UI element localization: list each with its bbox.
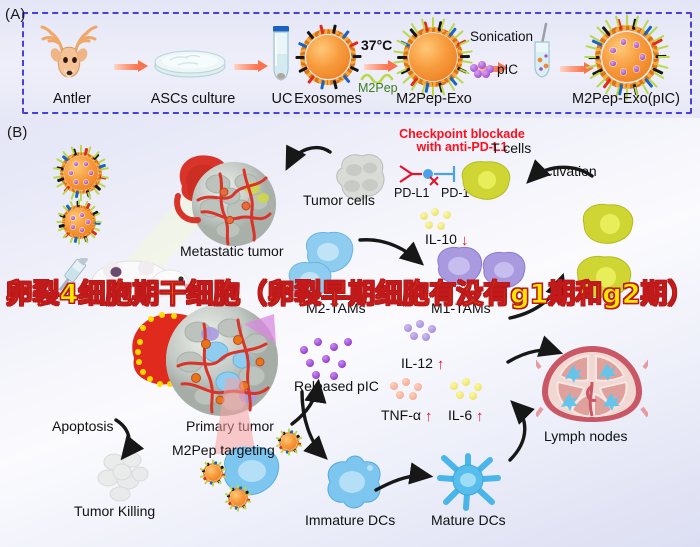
panel-a-letter: (A) — [5, 6, 26, 23]
m2pep-chain — [294, 449, 298, 453]
pic-dots-icon — [470, 61, 494, 77]
m2pep-chain — [80, 145, 82, 153]
targeting-nanoparticle-3 — [227, 487, 249, 509]
il-6-dots-icon — [450, 378, 490, 402]
m2pep-chain — [222, 475, 226, 478]
m2pep-chain — [212, 483, 214, 487]
centrifuge-tube-icon — [268, 24, 294, 84]
targeting-nanoparticle-1 — [278, 431, 300, 453]
pic-label: pIC — [497, 62, 518, 77]
m2pep-chain — [53, 167, 61, 170]
m2pep-chain — [584, 56, 596, 58]
label-il-12: IL-12 ↑ — [401, 355, 444, 373]
label-mature-dcs: Mature DCs — [431, 512, 506, 528]
pic-cargo-dot — [634, 42, 640, 48]
panel-a-step-label-antler: Antler — [22, 91, 122, 107]
il-12-dots-icon — [404, 320, 444, 342]
panel-a-step-label-m2pep-exo-pic: M2Pep-Exo(pIC) — [558, 91, 694, 107]
targeting-nanoparticle-2 — [202, 462, 224, 484]
m2pep-chain — [62, 188, 69, 195]
il-6-direction-arrow: ↑ — [476, 408, 484, 425]
m2pep-chain — [78, 199, 80, 205]
m2pep-chain — [298, 437, 302, 440]
arrow-m2-to-m1 — [360, 240, 420, 262]
panel-a-step-label-m2pep-exo: M2Pep-Exo — [392, 91, 476, 107]
label-m2pep-targeting: M2Pep targeting — [172, 442, 275, 458]
m2pep-chain — [247, 500, 251, 503]
tumor-killing-icon — [92, 446, 154, 504]
m2pep-chain — [626, 14, 628, 26]
m2pep-chain — [200, 468, 204, 471]
label-tumor-killing: Tumor Killing — [74, 503, 155, 519]
il-12-name: IL-12 — [401, 355, 433, 371]
pic-cargo-dot — [610, 48, 616, 54]
m2pep-chain — [78, 239, 80, 245]
m2pep-chain — [432, 17, 434, 28]
tnf-alpha-name: TNF-α — [381, 407, 421, 423]
pic-cargo-dot — [621, 69, 627, 75]
pic-cargo-dot — [621, 39, 627, 45]
metastatic-tumor-icon — [168, 148, 296, 258]
m2pep-chain — [658, 56, 670, 58]
m2pep-chain — [229, 505, 233, 509]
m2pep-exosome-icon — [400, 24, 466, 90]
m2pep-chain — [243, 505, 247, 509]
t-cell-icon-2 — [578, 200, 640, 248]
m2pep-chain — [56, 221, 62, 223]
arrow-pic-to-immaturedc — [302, 392, 324, 456]
immature-dc-icon — [318, 452, 388, 514]
pic-cargo-dot — [71, 216, 75, 220]
m2pep-chain — [56, 182, 64, 188]
m2pep-chain — [237, 508, 239, 512]
arrow-culture-to-uc — [234, 60, 268, 72]
exosome-icon — [298, 27, 358, 87]
m2pep-chain — [298, 444, 302, 447]
sonication-label: Sonication — [470, 29, 533, 44]
lymph-nodes-icon — [536, 342, 648, 428]
membrane-protein — [295, 56, 304, 59]
panel-a-step-label-exosomes: Exosomes — [292, 91, 364, 107]
il-6-name: IL-6 — [448, 407, 472, 423]
label-activation: Activation — [536, 163, 597, 179]
label-t-cells: T cells — [491, 140, 531, 156]
m2pep-chain — [237, 485, 239, 489]
m2pep-chain — [212, 460, 214, 464]
label-metastatic-tumor: Metastatic tumor — [180, 243, 283, 259]
panel-b-letter: (B) — [7, 124, 28, 141]
sonicator-tube-icon — [528, 22, 556, 84]
petri-dish-icon — [152, 46, 228, 80]
pic-cargo-dot — [80, 213, 84, 217]
m2pep-chain — [204, 480, 208, 484]
label-il-6: IL-6 ↑ — [448, 407, 484, 425]
il-12-direction-arrow: ↑ — [437, 356, 445, 373]
tnf-alpha-dots-icon — [390, 378, 430, 402]
m2pep-chain — [57, 227, 64, 231]
membrane-protein — [73, 237, 77, 243]
tnf-alpha-direction-arrow: ↑ — [425, 408, 433, 425]
pic-cargo-dot — [640, 54, 646, 60]
m2pep-chain — [288, 452, 290, 456]
membrane-protein — [397, 56, 407, 59]
membrane-protein — [459, 55, 469, 58]
released-pic-dots-icon — [300, 338, 356, 382]
pic-cargo-dot — [74, 180, 78, 184]
m2pep-exosome-pic-icon — [592, 22, 662, 92]
arrow-maturedc-to-lymph — [510, 404, 525, 460]
t-cell-icon-1 — [457, 158, 515, 204]
m2pep-chain — [80, 193, 82, 201]
label-tumor-cells: Tumor cells — [303, 192, 375, 208]
deer-icon — [36, 24, 108, 82]
figure-canvas: (A) Antler — [0, 0, 700, 547]
label-lymph-nodes: Lymph nodes — [544, 428, 628, 444]
mature-dc-icon — [432, 448, 506, 514]
panel-a-step-label-ascs-culture: ASCs culture — [148, 91, 238, 107]
watermark-text: 卵裂4细胞期干细胞（卵裂早期细胞有没有g1期和g2期） — [0, 272, 700, 311]
temperature-label: 37°C — [361, 37, 392, 53]
membrane-protein — [352, 55, 361, 58]
m2pep-chain — [288, 429, 290, 433]
arrow-antler-to-culture — [114, 60, 148, 72]
label-pd-l1: PD-L1 — [394, 186, 429, 200]
label-apoptosis: Apoptosis — [52, 418, 113, 434]
label-immature-dcs: Immature DCs — [305, 512, 395, 528]
label-tnf-alpha: TNF-α ↑ — [381, 407, 432, 425]
label-released-pic: Released pIC — [294, 378, 379, 394]
